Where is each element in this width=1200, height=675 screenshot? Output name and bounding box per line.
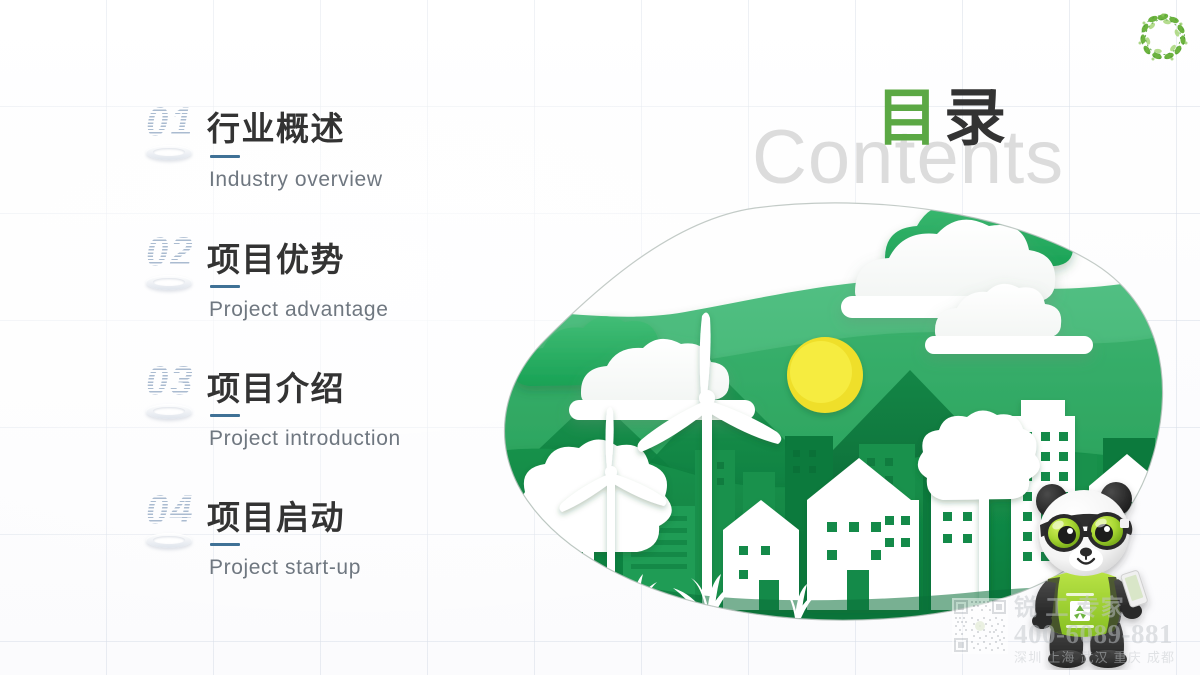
- toc-divider-dash: [210, 285, 240, 288]
- toc-number-pedestal: [146, 533, 192, 548]
- toc-title-en: Project introduction: [209, 427, 401, 451]
- toc-number: 01: [146, 100, 195, 145]
- toc-number: 04: [146, 488, 195, 533]
- toc-divider-dash: [210, 543, 240, 546]
- watermark-phone: 400-6089-881: [1014, 620, 1200, 650]
- title-cn-second: 录: [944, 84, 1012, 153]
- toc-number-pedestal: [146, 275, 192, 290]
- watermark-slogan: 锐 工 专家: [1014, 594, 1200, 620]
- watermark-cities: 深圳 上海 武汉 重庆 成都: [1014, 650, 1200, 667]
- toc-title-en: Industry overview: [209, 168, 383, 192]
- toc-title-en: Project start-up: [209, 556, 361, 580]
- toc-number-pedestal: [146, 404, 192, 419]
- toc-title-cn: 项目介绍: [207, 362, 345, 410]
- toc-title-cn: 行业概述: [207, 102, 345, 150]
- qr-code: [952, 598, 1008, 654]
- slide-canvas: Contents 目录 01 行业概述 Industry overview 02…: [0, 0, 1200, 675]
- title-main-text: 目录: [876, 86, 1012, 151]
- toc-divider-dash: [210, 414, 240, 417]
- watermark: 锐 工 专家 400-6089-881 深圳 上海 武汉 重庆 成都: [952, 596, 1200, 672]
- toc-number: 03: [146, 359, 195, 404]
- toc-number-pedestal: [146, 145, 192, 160]
- page-title: Contents 目录: [752, 86, 1052, 196]
- toc-title-cn: 项目启动: [207, 491, 345, 539]
- toc-title-en: Project advantage: [209, 298, 388, 322]
- title-cn-first: 目: [876, 84, 944, 153]
- toc-divider-dash: [210, 155, 240, 158]
- watermark-text-block: 锐 工 专家 400-6089-881 深圳 上海 武汉 重庆 成都: [1014, 594, 1200, 667]
- toc-title-cn: 项目优势: [207, 233, 345, 281]
- toc-number: 02: [146, 230, 195, 275]
- leaf-wreath-icon: [1136, 10, 1190, 64]
